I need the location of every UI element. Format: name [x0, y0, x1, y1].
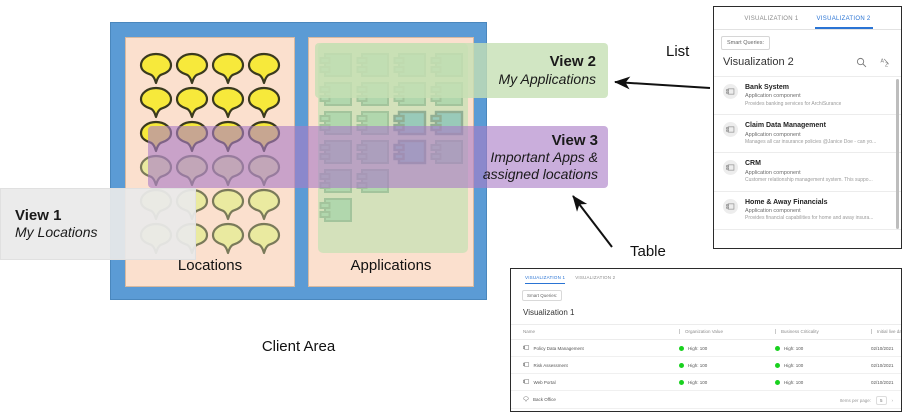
table-cell-initial-live-date: 02/10/2021 [871, 357, 902, 374]
table-cell-organization-value-label: High: 100 [688, 380, 707, 385]
items-per-page-select[interactable]: 5 [876, 396, 887, 405]
table-cell-business-criticality-label: High: 100 [784, 363, 803, 368]
table-cell-name: Back Office [511, 391, 679, 409]
table-cell-initial-live-date [871, 409, 902, 413]
table-cell-name: Risk Assessment [511, 357, 679, 374]
table-cell-organization-value: High: 100 [679, 374, 775, 391]
table-cell-business-criticality [775, 409, 871, 413]
location-pin[interactable] [175, 52, 209, 85]
location-pin[interactable] [211, 222, 245, 255]
table-visualization-panel[interactable]: VISUALIZATION 1 VISUALIZATION 2 Smart Qu… [510, 268, 902, 412]
status-dot-green [775, 380, 780, 385]
table-cell-name: Web Portal [511, 374, 679, 391]
table-cell-name-label: Web Portal [534, 380, 556, 385]
column-header-name-label: Name [523, 329, 535, 334]
table-cell-business-criticality: High: 100 [775, 340, 871, 357]
sort-handle-icon[interactable] [679, 329, 680, 334]
status-dot-green [775, 346, 780, 351]
pagination-next-icon[interactable]: › [892, 398, 894, 403]
list-item-name: CRM [745, 159, 873, 168]
column-header-business-criticality[interactable]: Business Criticality [775, 325, 871, 340]
location-pin[interactable] [211, 52, 245, 85]
location-pin[interactable] [247, 188, 281, 221]
search-icon[interactable] [856, 57, 867, 68]
list-item[interactable]: Claim Data ManagementApplication compone… [714, 115, 901, 153]
table-cell-initial-live-date: 02/10/2021 [871, 374, 902, 391]
table-tab-visualization-1[interactable]: VISUALIZATION 1 [525, 275, 565, 284]
list-item-description: Customer relationship management system.… [745, 177, 873, 185]
overlay-view3-subtitle-line1: Important Apps & [490, 149, 598, 166]
tab-visualization-2[interactable]: VISUALIZATION 2 [815, 14, 873, 29]
overlay-view1-subtitle: My Locations [15, 224, 97, 241]
svg-text:A: A [881, 58, 885, 64]
table-cell-name-label: Back Office [533, 397, 556, 402]
overlay-view3-subtitle-line2: assigned locations [483, 166, 598, 183]
location-pin[interactable] [247, 222, 281, 255]
overlay-view3[interactable]: View 3 Important Apps & assigned locatio… [148, 126, 608, 188]
group-label-applications: Applications [309, 257, 473, 274]
list-panel-title: Visualization 2 [723, 56, 856, 68]
sort-alpha-icon[interactable]: A Z [880, 57, 892, 68]
application-list[interactable]: Bank SystemApplication componentProvides… [714, 76, 901, 230]
application-component-icon [723, 122, 738, 137]
column-header-name[interactable]: Name [511, 325, 679, 340]
column-header-organization-value[interactable]: Organization Value [679, 325, 775, 340]
list-item-name: Claim Data Management [745, 121, 876, 130]
overlay-view2-title: View 2 [550, 53, 596, 70]
list-visualization-panel[interactable]: VISUALIZATION 1 VISUALIZATION 2 Smart Qu… [713, 6, 902, 249]
table-cell-organization-value [679, 409, 775, 413]
column-header-initial-live-date[interactable]: Initial live date [871, 325, 902, 340]
annotation-label-list: List [666, 43, 689, 60]
table-row[interactable]: Policy Data ManagementHigh: 100High: 100… [511, 340, 902, 357]
overlay-view2[interactable]: View 2 My Applications [315, 43, 608, 98]
status-dot-green [679, 363, 684, 368]
location-pin-icon [523, 396, 529, 403]
table-smart-queries-button[interactable]: Smart Queries: [522, 290, 562, 301]
table-cell-organization-value: High: 100 [679, 357, 775, 374]
table-cell-business-criticality-label: High: 100 [784, 380, 803, 385]
overlay-view3-title: View 3 [552, 132, 598, 149]
table-cell-name: Front Office [511, 409, 679, 413]
list-item-name: Bank System [745, 83, 841, 92]
table-panel-tabs[interactable]: VISUALIZATION 1 VISUALIZATION 2 [511, 269, 901, 284]
list-panel-tabs[interactable]: VISUALIZATION 1 VISUALIZATION 2 [714, 7, 901, 30]
list-item-description: Provides financial capabilities for home… [745, 215, 873, 223]
list-item-description: Manages all car insurance policies @Jani… [745, 139, 876, 147]
table-cell-name: Policy Data Management [511, 340, 679, 357]
location-pin[interactable] [175, 86, 209, 119]
column-header-organization-value-label: Organization Value [685, 329, 723, 334]
application-component-icon [523, 345, 530, 351]
table-cell-business-criticality-label: High: 100 [784, 346, 803, 351]
list-scrollbar[interactable] [896, 79, 899, 229]
status-dot-green [679, 346, 684, 351]
overlay-view1-title: View 1 [15, 207, 61, 224]
list-item-type: Application component [745, 92, 841, 100]
status-dot-green [775, 363, 780, 368]
table-header-row: Name Organization Value Business Critica… [511, 325, 902, 340]
table-cell-initial-live-date: 02/10/2021 [871, 340, 902, 357]
arrow-list-to-view2 [615, 82, 710, 88]
overlay-view2-subtitle: My Applications [498, 71, 596, 88]
table-cell-business-criticality: High: 100 [775, 357, 871, 374]
list-item-type: Application component [745, 131, 876, 139]
location-pin[interactable] [211, 86, 245, 119]
table-row[interactable]: Web PortalHigh: 100High: 10002/10/2021 [511, 374, 902, 391]
application-component-icon [523, 362, 530, 368]
list-item-type: Application component [745, 207, 873, 215]
application-component-icon [723, 84, 738, 99]
annotation-label-table: Table [630, 243, 666, 260]
list-panel-header: Visualization 2 A Z [714, 50, 901, 76]
location-pin[interactable] [139, 52, 173, 85]
table-cell-organization-value-label: High: 100 [688, 346, 707, 351]
location-pin[interactable] [247, 86, 281, 119]
table-pagination-footer[interactable]: Items per page: 5 › [840, 396, 893, 405]
table-cell-organization-value: High: 100 [679, 340, 775, 357]
table-panel-title: Visualization 1 [511, 302, 901, 324]
architecture-diagram: Locations Applications View 3 Important … [0, 0, 520, 415]
list-item[interactable]: Bank SystemApplication componentProvides… [714, 77, 901, 115]
list-item[interactable]: CRMApplication componentCustomer relatio… [714, 153, 901, 191]
application-component-icon [723, 199, 738, 214]
status-dot-green [679, 380, 684, 385]
table-row[interactable]: Risk AssessmentHigh: 100High: 10002/10/2… [511, 357, 902, 374]
smart-queries-button[interactable]: Smart Queries: [721, 36, 770, 50]
table-cell-business-criticality: High: 100 [775, 374, 871, 391]
table-cell-organization-value-label: High: 100 [688, 363, 707, 368]
arrow-table-to-view3 [573, 196, 612, 247]
table-row[interactable]: Front Office [511, 409, 902, 413]
tab-visualization-1[interactable]: VISUALIZATION 1 [742, 14, 800, 29]
sort-handle-icon[interactable] [775, 329, 776, 334]
items-per-page-label: Items per page: [840, 398, 871, 403]
table-cell-name-label: Policy Data Management [534, 346, 584, 351]
overlay-view1[interactable]: View 1 My Locations [0, 188, 196, 260]
application-component-icon [723, 160, 738, 175]
location-pin[interactable] [211, 188, 245, 221]
location-pin[interactable] [247, 52, 281, 85]
sort-handle-icon[interactable] [871, 329, 872, 334]
client-area-caption: Client Area [110, 338, 487, 355]
list-item-name: Home & Away Financials [745, 198, 873, 207]
table-tab-visualization-2[interactable]: VISUALIZATION 2 [575, 275, 615, 284]
list-item-description: Provides banking services for ArchiSuran… [745, 101, 841, 109]
column-header-initial-live-date-label: Initial live date [877, 329, 902, 334]
location-pin[interactable] [139, 86, 173, 119]
column-header-business-criticality-label: Business Criticality [781, 329, 819, 334]
table-cell-name-label: Risk Assessment [534, 363, 568, 368]
list-item-type: Application component [745, 169, 873, 177]
application-component-icon [523, 379, 530, 385]
table-cell-organization-value [679, 391, 775, 409]
list-item[interactable]: Home & Away FinancialsApplication compon… [714, 192, 901, 230]
